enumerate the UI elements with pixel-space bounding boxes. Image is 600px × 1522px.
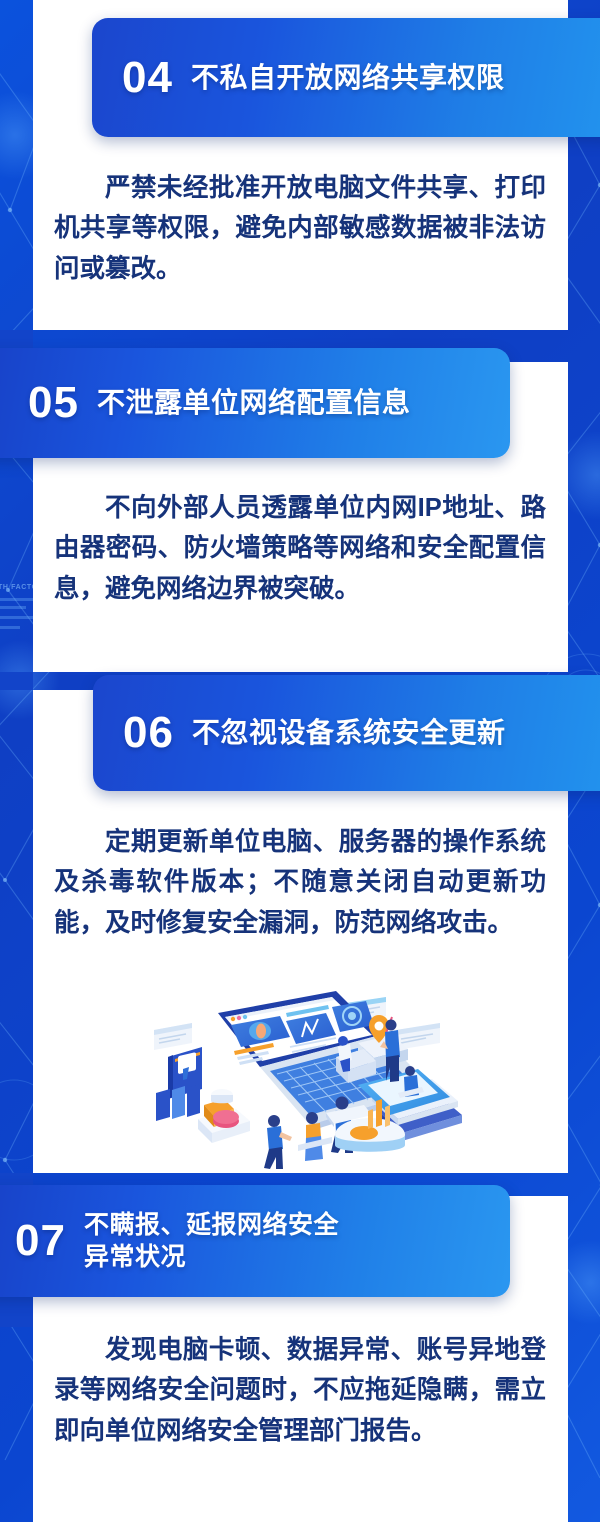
section-body-06: 定期更新单位电脑、服务器的操作系统及杀毒软件版本；不随意关闭自动更新功能，及时修… (54, 822, 546, 943)
section-title-06: 不忽视设备系统安全更新 (192, 716, 506, 749)
section-number-05: 05 (28, 381, 79, 425)
section-number-07: 07 (15, 1219, 66, 1263)
orange-podium (198, 1089, 250, 1143)
isometric-workspace-illustration (140, 985, 470, 1170)
floating-card-left (154, 1023, 192, 1050)
side-tab-bottom (0, 1297, 33, 1327)
section-number-04: 04 (122, 56, 173, 100)
section-title-05: 不泄露单位网络配置信息 (97, 386, 411, 419)
side-tab-middle (0, 672, 33, 690)
section-title-04: 不私自开放网络共享权限 (191, 61, 505, 94)
section-banner-04[interactable]: 04 不私自开放网络共享权限 (92, 18, 600, 137)
bg-line-4 (0, 626, 20, 629)
section-banner-06[interactable]: 06 不忽视设备系统安全更新 (93, 675, 600, 791)
section-banner-05[interactable]: 05 不泄露单位网络配置信息 (0, 348, 510, 458)
bg-line-1 (0, 598, 34, 601)
person-walking-left (264, 1115, 292, 1169)
section-body-05: 不向外部人员透露单位内网IP地址、路由器密码、防火墙策略等网络和安全配置信息，避… (54, 488, 546, 609)
books-left (156, 1084, 200, 1121)
infographic-page: TH FACTOR TH FACTOR 04 不私自开放网络共享权限 严禁未经批… (0, 0, 600, 1522)
section-title-07: 不瞒报、延报网络安全异常状况 (84, 1209, 339, 1274)
section-banner-07[interactable]: 07 不瞒报、延报网络安全异常状况 (0, 1185, 510, 1297)
section-body-07: 发现电脑卡顿、数据异常、账号异地登录等网络安全问题时，不应拖延隐瞒，需立即向单位… (54, 1330, 546, 1451)
bg-line-2 (0, 606, 26, 609)
section-number-06: 06 (123, 711, 174, 755)
bg-line-3 (0, 616, 33, 619)
section-body-04: 严禁未经批准开放电脑文件共享、打印机共享等权限，避免内部敏感数据被非法访问或篡改… (54, 168, 546, 289)
